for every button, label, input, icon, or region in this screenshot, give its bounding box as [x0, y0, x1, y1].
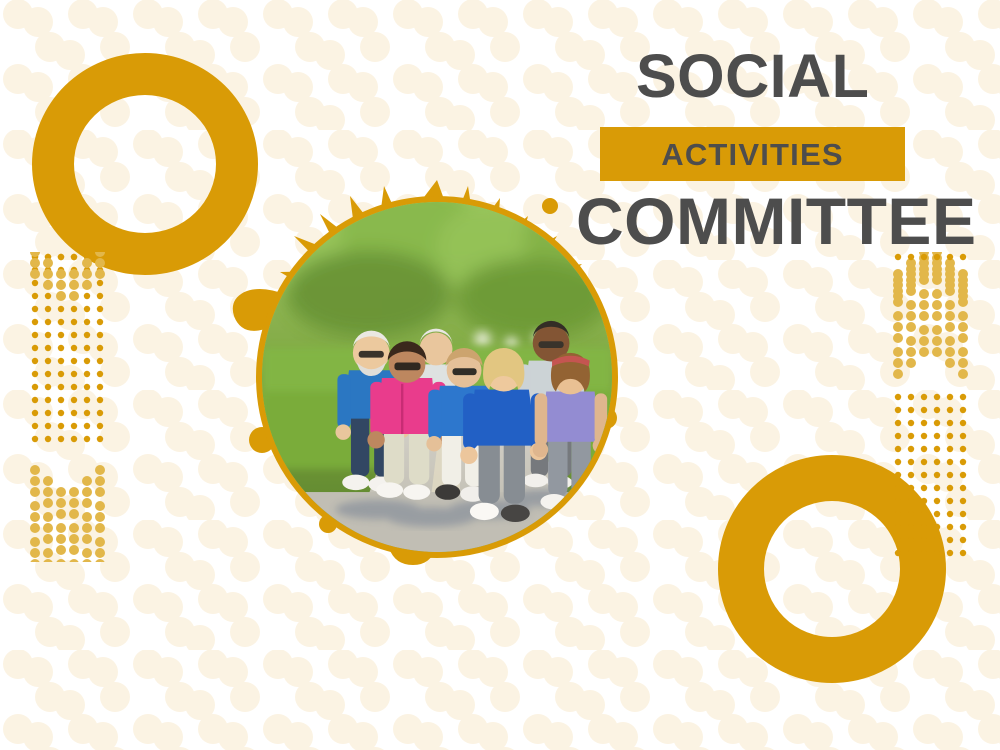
title-line-social: SOCIAL: [636, 46, 869, 107]
group-walking-photo: [256, 196, 618, 558]
decorative-ring-bottom-right: [718, 455, 946, 683]
left-dot-decoration: [30, 252, 110, 562]
activities-highlight-bar: ACTIVITIES: [600, 127, 905, 181]
title-line-committee: COMMITTEE: [576, 188, 976, 254]
title-line-activities: ACTIVITIES: [661, 139, 844, 170]
poster-canvas: SOCIAL ACTIVITIES COMMITTEE: [0, 0, 1000, 750]
decorative-ring-top-left: [32, 53, 258, 275]
